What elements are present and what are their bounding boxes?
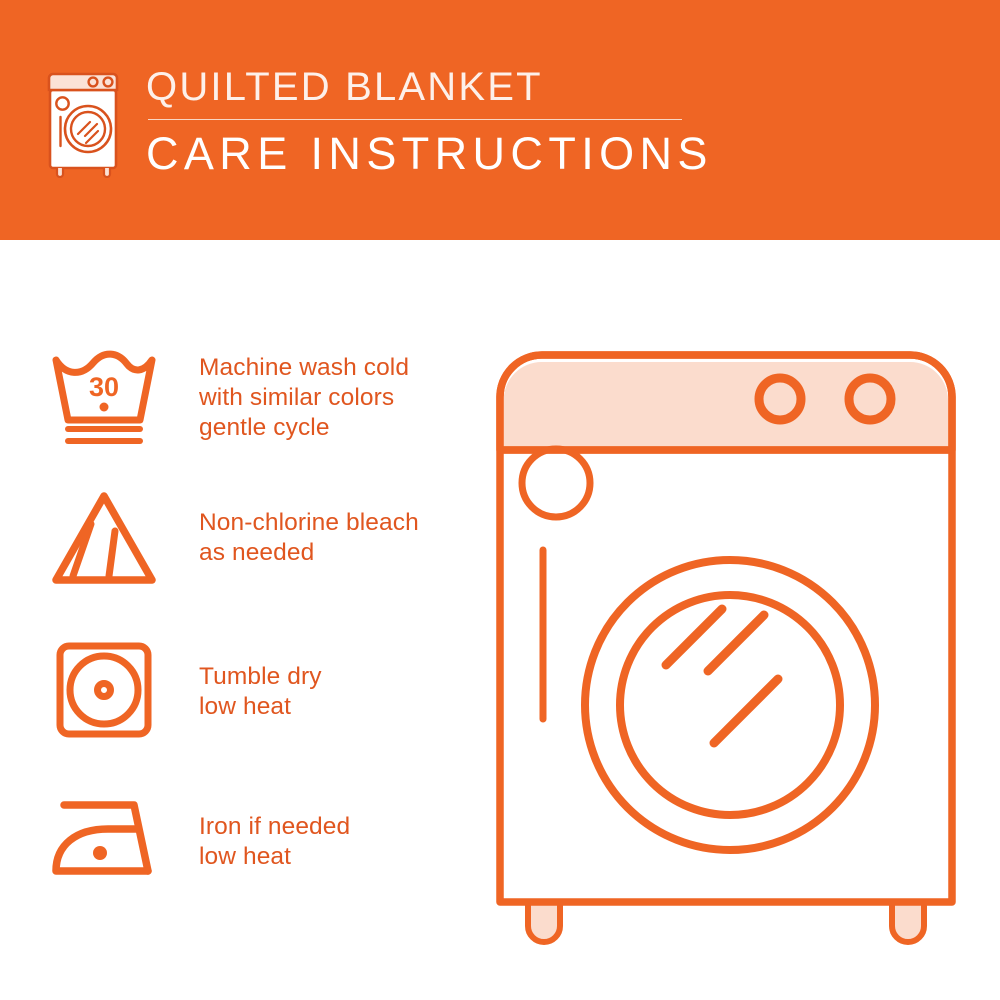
care-item-machine-wash: 30 Machine wash cold with similar colors… [45,345,409,451]
machine-wash-30-gentle-icon: 30 [45,345,163,451]
header-titles: QUILTED BLANKET CARE INSTRUCTIONS [146,62,713,180]
iron-low-heat-icon [45,792,163,884]
header-banner: QUILTED BLANKET CARE INSTRUCTIONS [0,0,1000,240]
tumble-dry-low-heat-icon [45,640,163,740]
care-item-bleach: Non-chlorine bleach as needed [45,488,419,588]
title-divider [148,119,682,120]
header-content: QUILTED BLANKET CARE INSTRUCTIONS [42,62,713,180]
care-item-label: Machine wash cold with similar colors ge… [163,345,409,443]
washing-machine-icon [42,68,128,178]
care-instructions-list: 30 Machine wash cold with similar colors… [0,240,470,1000]
care-item-iron: Iron if needed low heat [45,792,350,884]
care-item-tumble-dry: Tumble dry low heat [45,640,322,740]
wash-temperature-label: 30 [89,372,119,402]
non-chlorine-bleach-triangle-icon [45,488,163,588]
page-title-primary: QUILTED BLANKET [146,64,713,110]
page-title-secondary: CARE INSTRUCTIONS [146,128,713,180]
front-load-washing-machine-illustration [480,300,970,960]
care-item-label: Non-chlorine bleach as needed [163,488,419,568]
care-item-label: Iron if needed low heat [163,792,350,872]
care-item-label: Tumble dry low heat [163,640,322,722]
